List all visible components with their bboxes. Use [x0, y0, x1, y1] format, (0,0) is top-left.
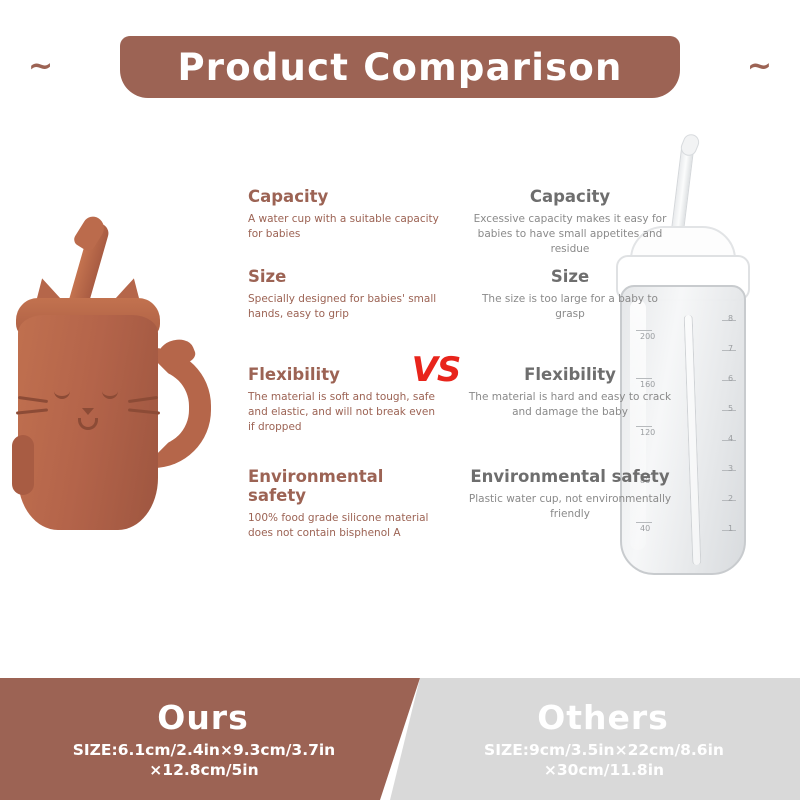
footer-others-title: Others [537, 698, 669, 737]
squiggle-left-decor: ~ [28, 52, 53, 82]
feature-desc: The size is too large for a baby to gras… [466, 292, 674, 322]
feature-desc: Plastic water cup, not environmentally f… [466, 492, 674, 522]
feature-title: Environmental safety [248, 468, 443, 506]
footer-ours-size: SIZE:6.1cm/2.4in×9.3cm/3.7in ×12.8cm/5in [73, 741, 335, 780]
squiggle-right-decor: ~ [747, 52, 772, 82]
comparison-area: Capacity A water cup with a suitable cap… [0, 180, 800, 600]
footer-ours: Ours SIZE:6.1cm/2.4in×9.3cm/3.7in ×12.8c… [0, 678, 420, 800]
feature-title: Flexibility [466, 366, 674, 385]
feature-others-environmental-safety: Environmental safety Plastic water cup, … [466, 468, 674, 522]
footer-ours-title: Ours [157, 698, 248, 737]
feature-others-size: Size The size is too large for a baby to… [466, 268, 674, 322]
feature-others-flexibility: Flexibility The material is hard and eas… [466, 366, 674, 420]
feature-title: Size [466, 268, 674, 287]
feature-desc: The material is hard and easy to crack a… [466, 390, 674, 420]
feature-desc: A water cup with a suitable capacity for… [248, 212, 443, 242]
feature-desc: 100% food grade silicone material does n… [248, 511, 443, 541]
feature-ours-capacity: Capacity A water cup with a suitable cap… [248, 188, 443, 242]
footer-others: Others SIZE:9cm/3.5in×22cm/8.6in ×30cm/1… [390, 678, 800, 800]
feature-desc: The material is soft and tough, safe and… [248, 390, 443, 436]
feature-title: Capacity [466, 188, 674, 207]
feature-ours-size: Size Specially designed for babies' smal… [248, 268, 443, 322]
feature-others-capacity: Capacity Excessive capacity makes it eas… [466, 188, 674, 258]
vs-badge: VS [406, 348, 466, 392]
feature-ours-environmental-safety: Environmental safety 100% food grade sil… [248, 468, 443, 541]
feature-title: Environmental safety [466, 468, 674, 487]
footer: Ours SIZE:6.1cm/2.4in×9.3cm/3.7in ×12.8c… [0, 678, 800, 800]
feature-title: Capacity [248, 188, 443, 207]
feature-desc: Excessive capacity makes it easy for bab… [466, 212, 674, 258]
footer-others-size: SIZE:9cm/3.5in×22cm/8.6in ×30cm/11.8in [484, 741, 724, 780]
feature-title: Size [248, 268, 443, 287]
feature-desc: Specially designed for babies' small han… [248, 292, 443, 322]
page-title: Product Comparison [120, 36, 680, 98]
